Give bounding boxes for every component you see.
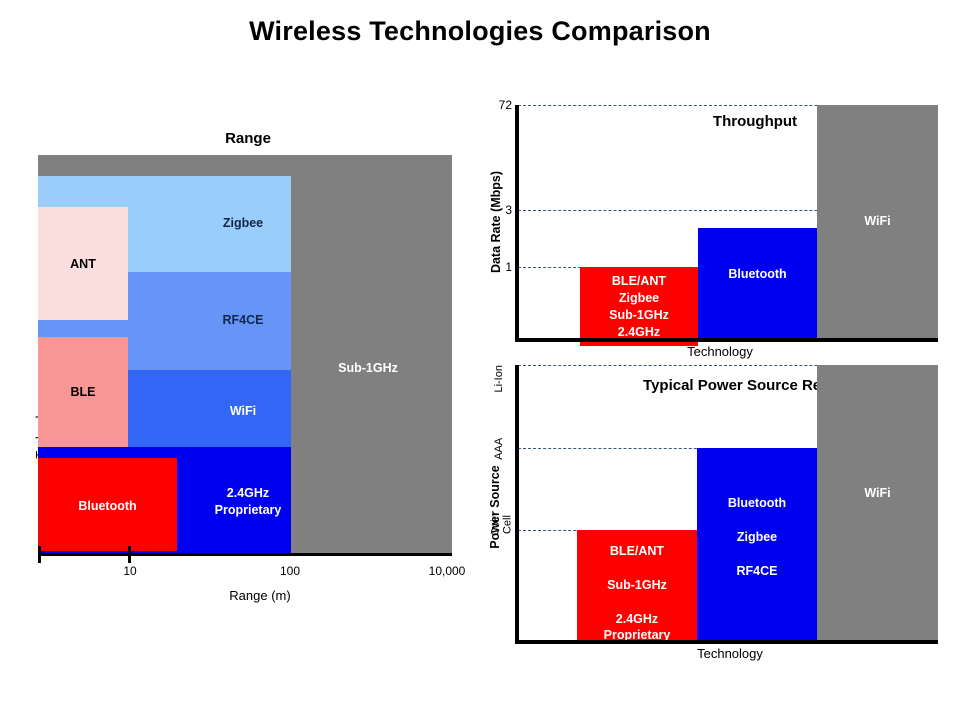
range-band-ble[interactable] xyxy=(38,337,128,447)
throughput-bar-bluetooth[interactable] xyxy=(698,228,817,338)
range-x-axis xyxy=(38,553,452,556)
page-title: Wireless Technologies Comparison xyxy=(0,16,960,47)
throughput-y-tick-label-3: 3 xyxy=(482,203,512,217)
power-y-tick-label-aaa: AAA xyxy=(494,427,506,471)
range-x-axis-title: Range (m) xyxy=(180,588,340,603)
throughput-bar-wifi[interactable] xyxy=(817,105,938,338)
range-x-tick-origin xyxy=(38,546,41,563)
throughput-y-tick-label-72: 72 xyxy=(482,98,512,112)
range-x-tick-10 xyxy=(128,546,131,563)
power-chart: Typical Power Source Required Power Sour… xyxy=(460,355,960,665)
power-bar-liion[interactable] xyxy=(817,365,938,640)
power-y-axis xyxy=(515,365,519,643)
range-band-bluetooth[interactable] xyxy=(38,458,177,551)
range-plot-area: Sub-1GHz Zigbee RF4CE WiFi 2.4GHz Propri… xyxy=(38,155,452,553)
power-plot-area: BLE/ANT Sub-1GHz 2.4GHz Proprietary Blue… xyxy=(518,365,938,640)
range-chart-title: Range xyxy=(148,130,348,147)
power-y-tick-label-liion: Li-Ion xyxy=(494,357,506,401)
throughput-bar-lowrate[interactable] xyxy=(580,267,698,338)
range-x-tick-label-100: 100 xyxy=(265,564,315,578)
power-y-tick-label-coincell: Coin Cell xyxy=(490,503,513,547)
throughput-y-axis xyxy=(515,105,519,341)
range-chart: Range Technology Sub-1GHz Zigbee RF4CE W… xyxy=(0,120,480,620)
range-band-ant[interactable] xyxy=(38,207,128,320)
power-x-axis xyxy=(515,640,938,644)
throughput-y-tick-label-1: 1 xyxy=(482,260,512,274)
range-x-tick-label-10: 10 xyxy=(105,564,155,578)
throughput-chart: Throughput Data Rate (Mbps) 72 3 1 BLE/A… xyxy=(460,95,960,360)
power-bar-coincell[interactable] xyxy=(577,530,697,640)
slide-canvas: Wireless Technologies Comparison Range T… xyxy=(0,0,960,720)
power-x-axis-title: Technology xyxy=(670,646,790,661)
throughput-plot-area: BLE/ANT Zigbee Sub-1GHz 2.4GHz Bluetooth… xyxy=(518,105,938,338)
throughput-x-axis xyxy=(515,338,938,342)
power-bar-aaa[interactable] xyxy=(697,448,817,640)
